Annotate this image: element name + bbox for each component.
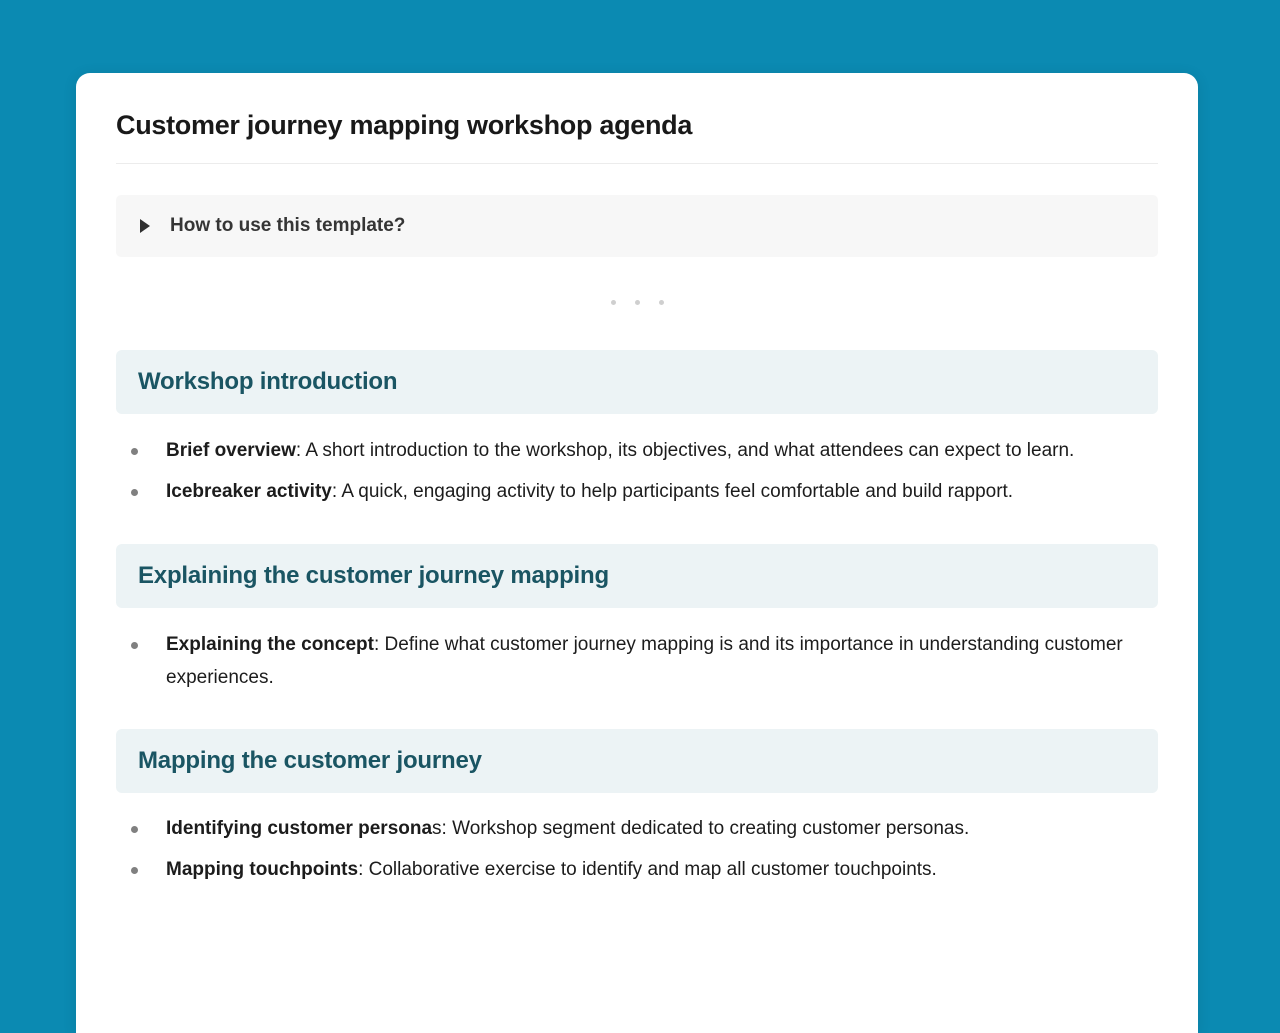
section-heading-text: Workshop introduction [138, 368, 397, 396]
three-dots-divider [116, 300, 1158, 308]
document-body: Customer journey mapping workshop agenda… [76, 73, 1198, 886]
section-workshop-introduction: Workshop introduction Brief overview: A … [116, 350, 1158, 508]
bullet-term: Explaining the concept [166, 634, 374, 655]
triangle-right-icon [140, 219, 150, 233]
how-to-use-toggle-label: How to use this template? [170, 215, 405, 237]
list-item: Identifying customer personas: Workshop … [116, 812, 1158, 845]
bullet-text: : Collaborative exercise to identify and… [358, 859, 937, 880]
bullet-term: Icebreaker activity [166, 481, 332, 502]
divider-dot [659, 300, 664, 305]
page-title: Customer journey mapping workshop agenda [116, 73, 1158, 143]
section-mapping-the-customer-journey: Mapping the customer journey Identifying… [116, 729, 1158, 886]
section-bullet-list: Explaining the concept: Define what cust… [116, 628, 1158, 694]
list-item: Explaining the concept: Define what cust… [116, 628, 1158, 694]
title-divider-rule [116, 163, 1158, 164]
section-heading-text: Mapping the customer journey [138, 747, 482, 775]
list-item: Icebreaker activity: A quick, engaging a… [116, 475, 1158, 508]
list-item: Mapping touchpoints: Collaborative exerc… [116, 853, 1158, 886]
bullet-text: : A quick, engaging activity to help par… [332, 481, 1013, 502]
section-header: Explaining the customer journey mapping [116, 544, 1158, 608]
section-heading-text: Explaining the customer journey mapping [138, 562, 609, 590]
section-header: Workshop introduction [116, 350, 1158, 414]
section-header: Mapping the customer journey [116, 729, 1158, 793]
section-bullet-list: Identifying customer personas: Workshop … [116, 812, 1158, 886]
document-card: Customer journey mapping workshop agenda… [76, 73, 1198, 1033]
bullet-term: Mapping touchpoints [166, 859, 358, 880]
how-to-use-toggle[interactable]: How to use this template? [116, 195, 1158, 257]
bullet-text: s: Workshop segment dedicated to creatin… [432, 818, 969, 839]
bullet-text: : A short introduction to the workshop, … [296, 440, 1074, 461]
bullet-term: Identifying customer persona [166, 818, 432, 839]
section-bullet-list: Brief overview: A short introduction to … [116, 434, 1158, 508]
divider-dot [611, 300, 616, 305]
divider-dot [635, 300, 640, 305]
list-item: Brief overview: A short introduction to … [116, 434, 1158, 467]
bullet-term: Brief overview [166, 440, 296, 461]
section-explaining-customer-journey-mapping: Explaining the customer journey mapping … [116, 544, 1158, 694]
